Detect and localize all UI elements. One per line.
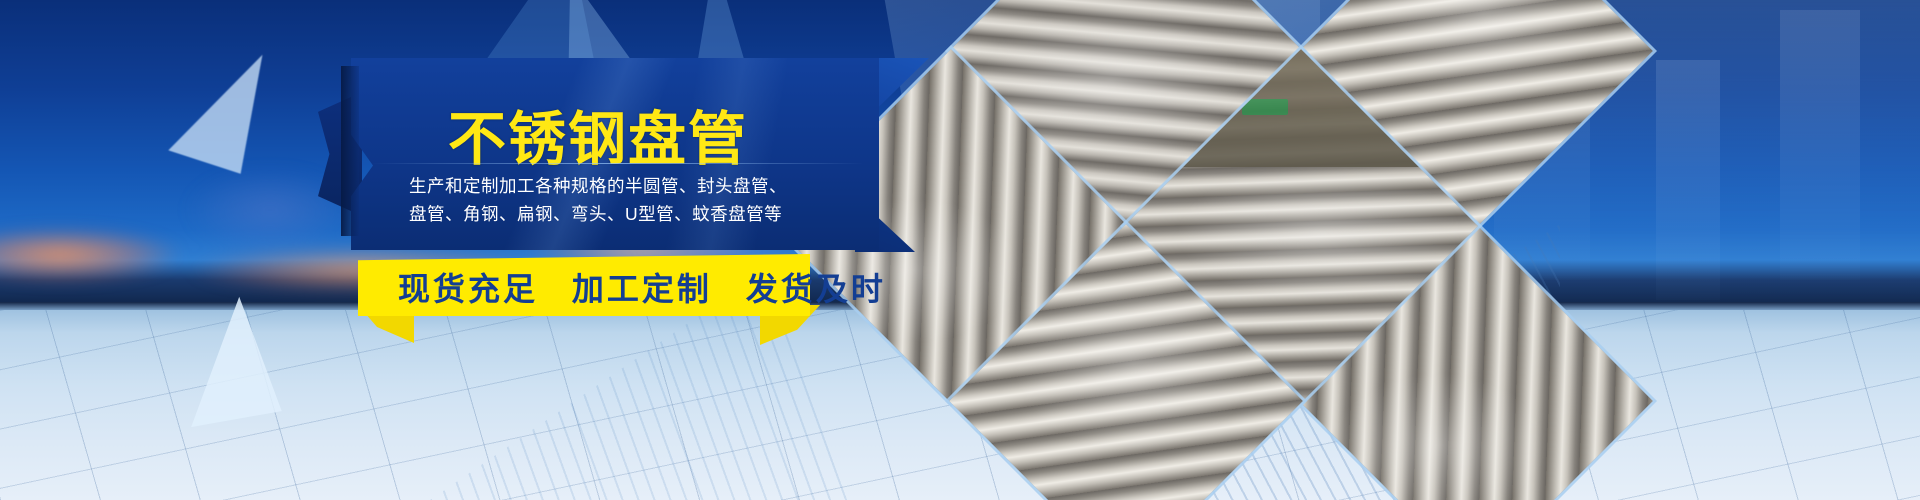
feature-item-3: 发货及时 xyxy=(746,271,886,307)
subtitle-line-2: 盘管、角钢、扁钢、弯头、U型管、蚊香盘管等 xyxy=(409,201,782,226)
feature-list: 现货充足 加工定制 发货及时 xyxy=(398,264,886,310)
ribbon-divider xyxy=(372,163,864,164)
tower-shape xyxy=(1780,10,1860,280)
feature-item-1: 现货充足 xyxy=(398,271,538,307)
product-photo-collage xyxy=(826,0,1526,500)
ribbon-fold-decor xyxy=(341,66,359,236)
product-hero-banner: 不锈钢盘管 生产和定制加工各种规格的半圆管、封头盘管、 盘管、角钢、扁钢、弯头、… xyxy=(0,0,1920,500)
feature-item-2: 加工定制 xyxy=(572,271,712,307)
subtitle-line-1: 生产和定制加工各种规格的半圆管、封头盘管、 xyxy=(409,173,787,198)
tower-shape xyxy=(1656,60,1720,300)
